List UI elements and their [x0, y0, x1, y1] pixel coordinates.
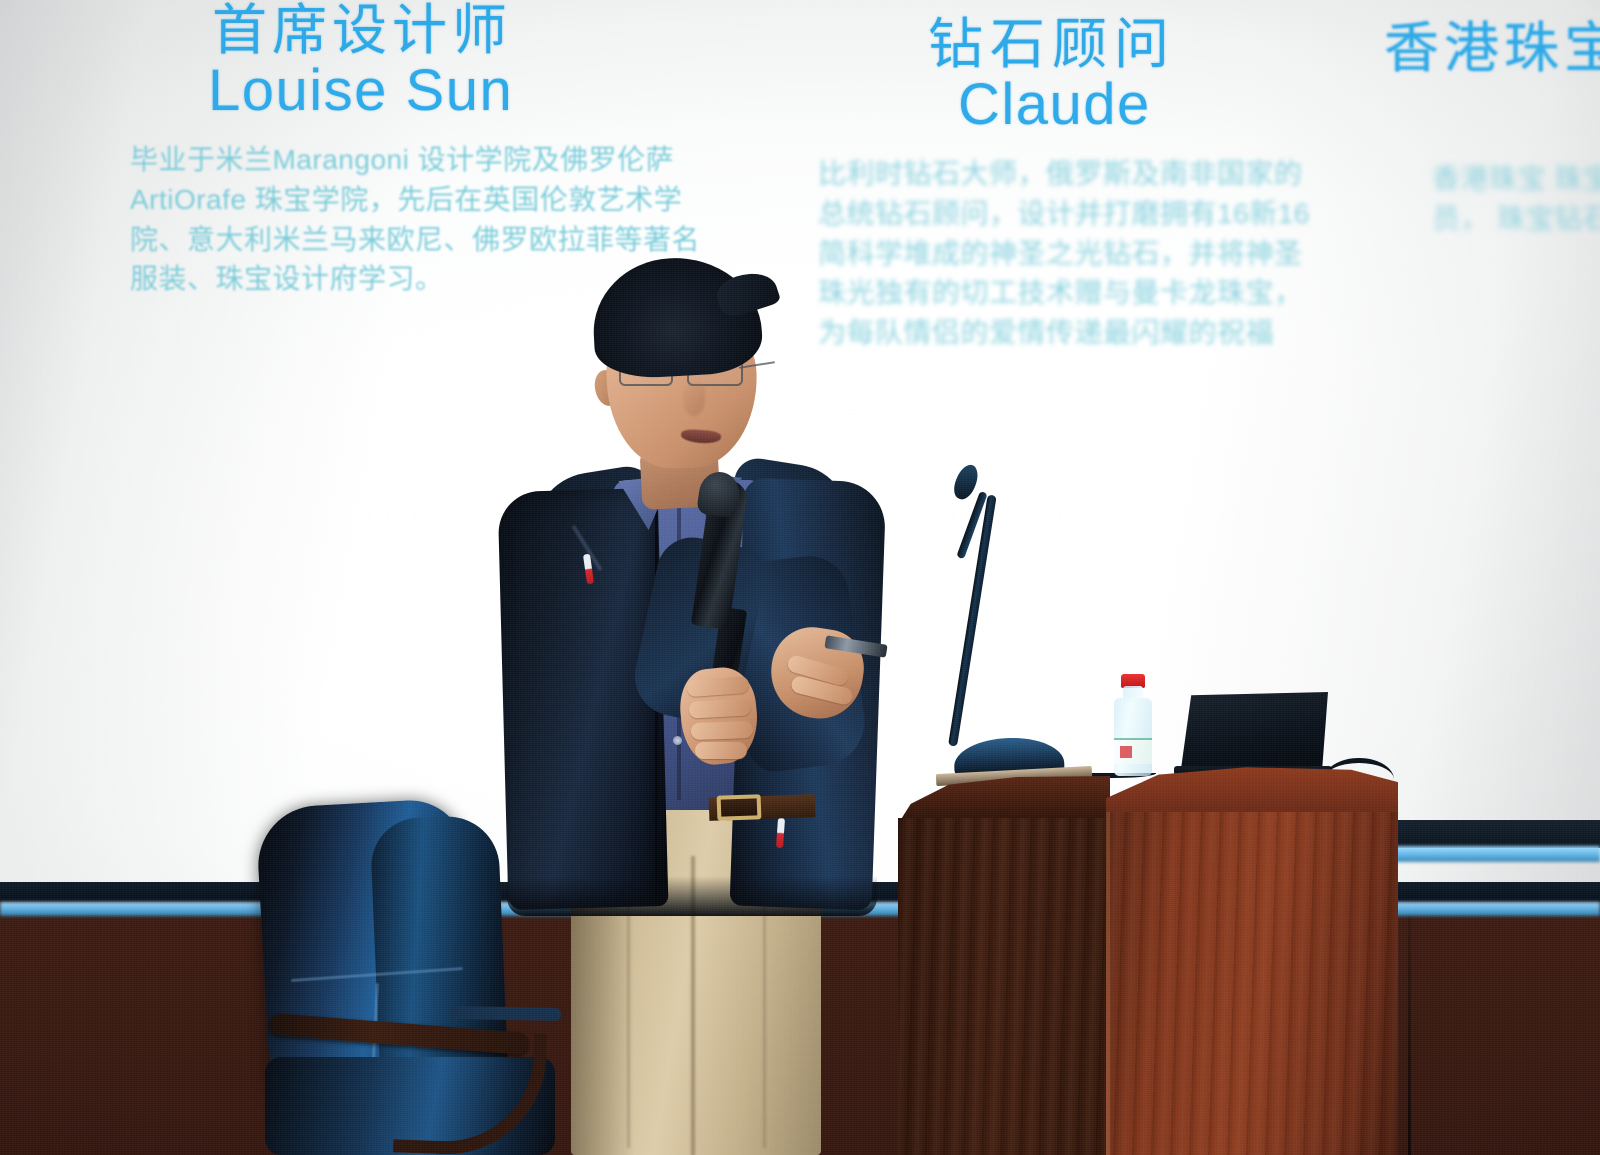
hair	[590, 254, 764, 381]
laptop-screen	[1176, 692, 1328, 772]
slide-column-2-title-cn: 钻石顾问	[928, 16, 1338, 73]
slide-column-3-body: 香港珠宝 珠宝设计 委员， 珠宝钻石 位全球	[1432, 159, 1600, 239]
speaker	[495, 258, 895, 1155]
jacket-hem	[507, 876, 877, 916]
lectern	[898, 760, 1398, 1155]
belt-buckle	[717, 794, 762, 821]
nose	[683, 382, 705, 416]
slide-column-1-title-en: Louise Sun	[208, 59, 716, 124]
lectern-top-left	[898, 776, 1110, 824]
bottle-label-accent	[1120, 746, 1132, 758]
shirt-button	[673, 736, 682, 745]
finger	[691, 721, 754, 740]
finger	[695, 742, 747, 759]
lectern-edge-highlight	[1106, 812, 1110, 1155]
lectern-face-right	[1106, 812, 1398, 1155]
slide-column-3-title-cn: 香港珠宝	[1384, 20, 1600, 77]
slide-column-1: 首席设计师 Louise Sun 毕业于米兰Marangoni 设计学院及佛罗伦…	[130, 2, 716, 299]
finger	[689, 698, 752, 718]
slide-column-3: 香港珠宝 香港珠宝 珠宝设计 委员， 珠宝钻石 位全球	[1384, 20, 1600, 239]
slide-column-2-title-en: Claude	[958, 73, 1338, 138]
water-bottle	[1114, 698, 1152, 776]
lectern-face-left	[898, 818, 1110, 1155]
slide-column-2: 钻石顾问 Claude 比利时钻石大师，俄罗斯及南非国家的总统钻石顾问，设计并打…	[818, 16, 1338, 353]
wood-grain	[1106, 812, 1398, 1155]
presentation-photo: 首席设计师 Louise Sun 毕业于米兰Marangoni 设计学院及佛罗伦…	[0, 0, 1600, 1155]
wood-grain	[898, 818, 1110, 1155]
slide-column-1-title-cn: 首席设计师	[212, 2, 716, 59]
